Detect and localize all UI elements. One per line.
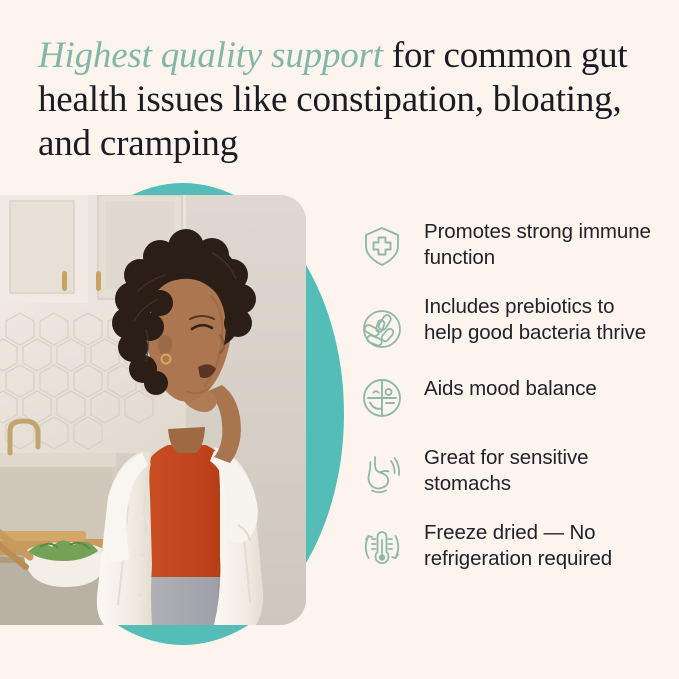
headline-accent-text: Highest quality support — [38, 35, 383, 76]
lifestyle-photo — [0, 195, 306, 625]
shield-plus-icon — [358, 222, 406, 270]
feature-label: Includes prebiotics to help good bacteri… — [424, 293, 658, 346]
stomach-icon — [358, 448, 406, 496]
feature-item: Great for sensitive stomachs — [358, 444, 658, 497]
feature-item: Freeze dried — No refrigeration required — [358, 519, 658, 572]
thermometer-freeze-icon — [358, 523, 406, 571]
marketing-graphic: Highest quality support for common gut h… — [0, 0, 679, 679]
photo-illustration — [0, 195, 306, 625]
bacteria-circle-icon — [358, 305, 406, 353]
feature-item: Promotes strong immune function — [358, 218, 658, 271]
feature-item: Aids mood balance — [358, 375, 658, 422]
feature-list: Promotes strong immune function Includes… — [358, 218, 658, 572]
feature-item: Includes prebiotics to help good bacteri… — [358, 293, 658, 353]
feature-label: Aids mood balance — [424, 375, 658, 402]
feature-label: Great for sensitive stomachs — [424, 444, 658, 497]
page-title: Highest quality support for common gut h… — [38, 34, 638, 166]
feature-label: Promotes strong immune function — [424, 218, 658, 271]
mood-face-icon — [358, 374, 406, 422]
feature-label: Freeze dried — No refrigeration required — [424, 519, 658, 572]
